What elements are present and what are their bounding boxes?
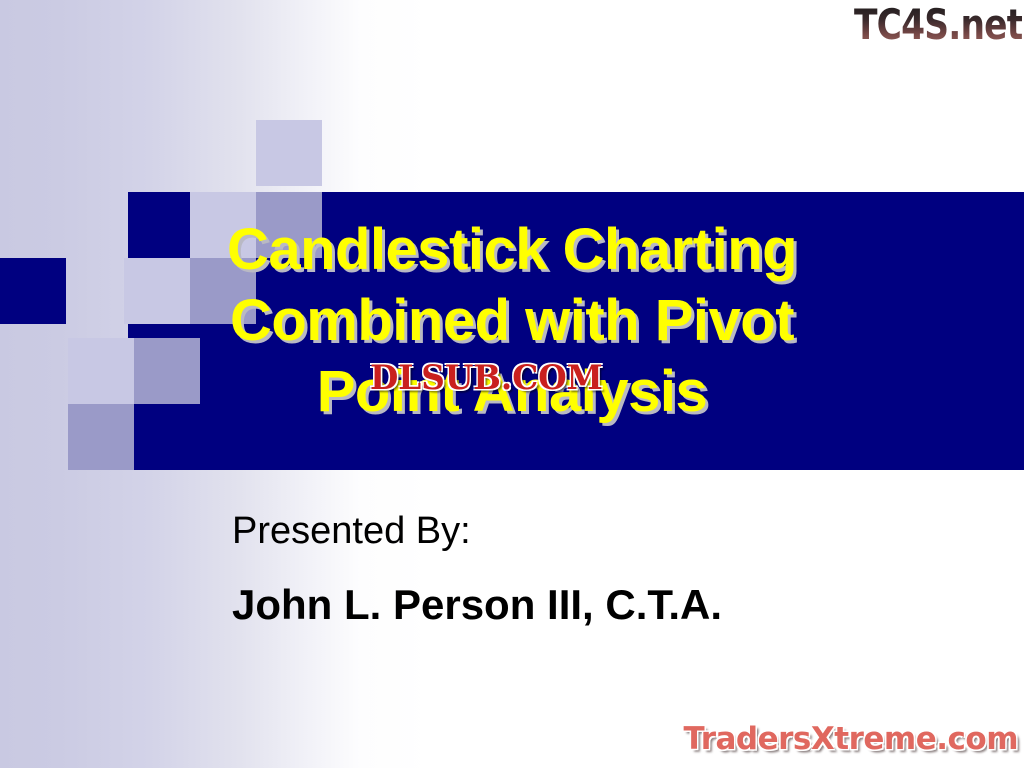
presented-by-label: Presented By: [232, 504, 992, 558]
presenter-block: Presented By: John L. Person III, C.T.A. [232, 504, 992, 634]
dlsub-watermark: DLSUB.COM [370, 360, 603, 396]
tradersxtreme-watermark: TradersXtreme.com [683, 722, 1018, 756]
presenter-name: John L. Person III, C.T.A. [232, 576, 992, 634]
presentation-slide: Candlestick Charting Combined with Pivot… [0, 0, 1024, 768]
tc4s-watermark: TC4S.net [854, 2, 1022, 48]
decorative-square [256, 120, 322, 186]
title-line-2: Combined with Pivot [0, 285, 1024, 356]
title-line-1: Candlestick Charting [0, 214, 1024, 285]
